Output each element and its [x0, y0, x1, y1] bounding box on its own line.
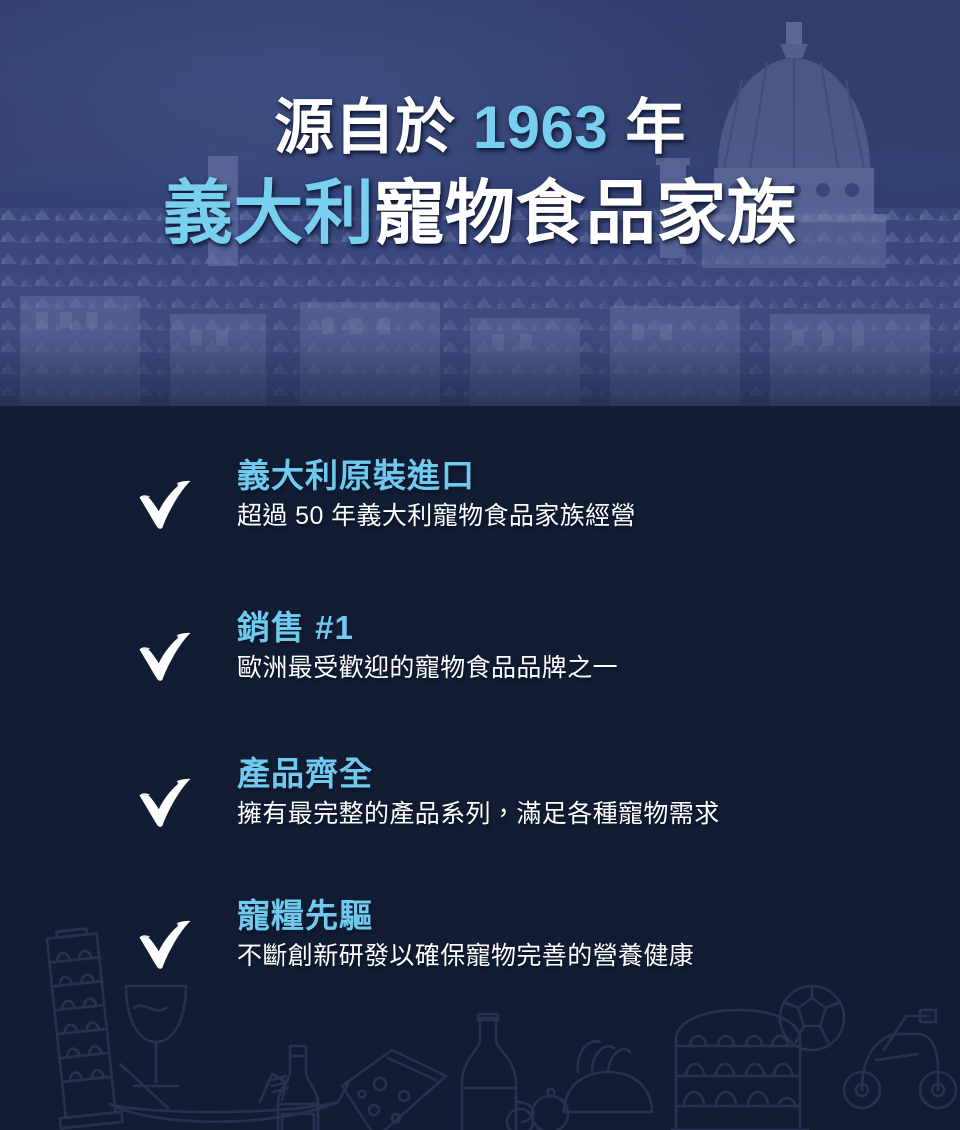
feature-text-2: 銷售 #1 歐洲最受歡迎的寵物食品品牌之一	[237, 610, 618, 684]
feature-text-4: 寵糧先驅 不斷創新研發以確保寵物完善的營養健康	[237, 898, 694, 972]
features-section: 義大利原裝進口 超過 50 年義大利寵物食品家族經營 銷售 #1 歐洲最受歡迎的…	[0, 406, 960, 1130]
feature-description: 歐洲最受歡迎的寵物食品品牌之一	[237, 653, 618, 684]
hero-title-part: 寵物食品家族	[374, 174, 797, 252]
gondola-icon	[110, 1064, 348, 1122]
hero-title-part: 年	[608, 94, 686, 161]
hero-title-part: 源自於	[274, 94, 473, 161]
wine-bottle-icon	[278, 1046, 318, 1130]
hero-title-line-1: 源自於 1963 年	[0, 98, 960, 158]
brush-check-icon	[137, 478, 193, 530]
feature-list: 義大利原裝進口 超過 50 年義大利寵物食品家族經營 銷售 #1 歐洲最受歡迎的…	[0, 406, 960, 1018]
hero-title-line-2: 義大利寵物食品家族	[0, 178, 960, 248]
feature-description: 擁有最完整的產品系列，滿足各種寵物需求	[237, 799, 720, 830]
feature-heading: 寵糧先驅	[237, 898, 694, 935]
feature-text-1: 義大利原裝進口 超過 50 年義大利寵物食品家族經營	[237, 458, 636, 532]
feature-text-3: 產品齊全 擁有最完整的產品系列，滿足各種寵物需求	[237, 756, 720, 830]
feature-item-4: 寵糧先驅 不斷創新研發以確保寵物完善的營養健康	[0, 898, 960, 1018]
feature-item-3: 產品齊全 擁有最完整的產品系列，滿足各種寵物需求	[0, 756, 960, 876]
brush-check-icon	[137, 630, 193, 682]
brush-check-icon	[137, 776, 193, 828]
feature-heading: 產品齊全	[237, 756, 720, 793]
feature-description: 不斷創新研發以確保寵物完善的營養健康	[237, 941, 694, 972]
hero-section: 源自於 1963 年 義大利寵物食品家族	[0, 0, 960, 406]
colosseum-icon	[672, 1010, 808, 1130]
feature-item-2: 銷售 #1 歐洲最受歡迎的寵物食品品牌之一	[0, 610, 960, 730]
hero-headline: 源自於 1963 年 義大利寵物食品家族	[0, 98, 960, 248]
hero-title-italy: 義大利	[163, 174, 375, 252]
hero-bottom-fade	[0, 336, 960, 406]
feature-heading: 義大利原裝進口	[237, 458, 636, 495]
brand-story-banner: 源自於 1963 年 義大利寵物食品家族	[0, 0, 960, 1130]
feature-description: 超過 50 年義大利寵物食品家族經營	[237, 501, 636, 532]
brush-check-icon	[137, 918, 193, 970]
pasta-tomato-icon	[507, 1041, 652, 1130]
pizza-slice-icon	[342, 1050, 446, 1130]
feature-heading: 銷售 #1	[237, 610, 618, 647]
olive-oil-bottle-icon	[462, 1014, 533, 1130]
feature-item-1: 義大利原裝進口 超過 50 年義大利寵物食品家族經營	[0, 458, 960, 578]
vespa-scooter-icon	[844, 1010, 956, 1108]
hero-title-year: 1963	[473, 94, 608, 161]
